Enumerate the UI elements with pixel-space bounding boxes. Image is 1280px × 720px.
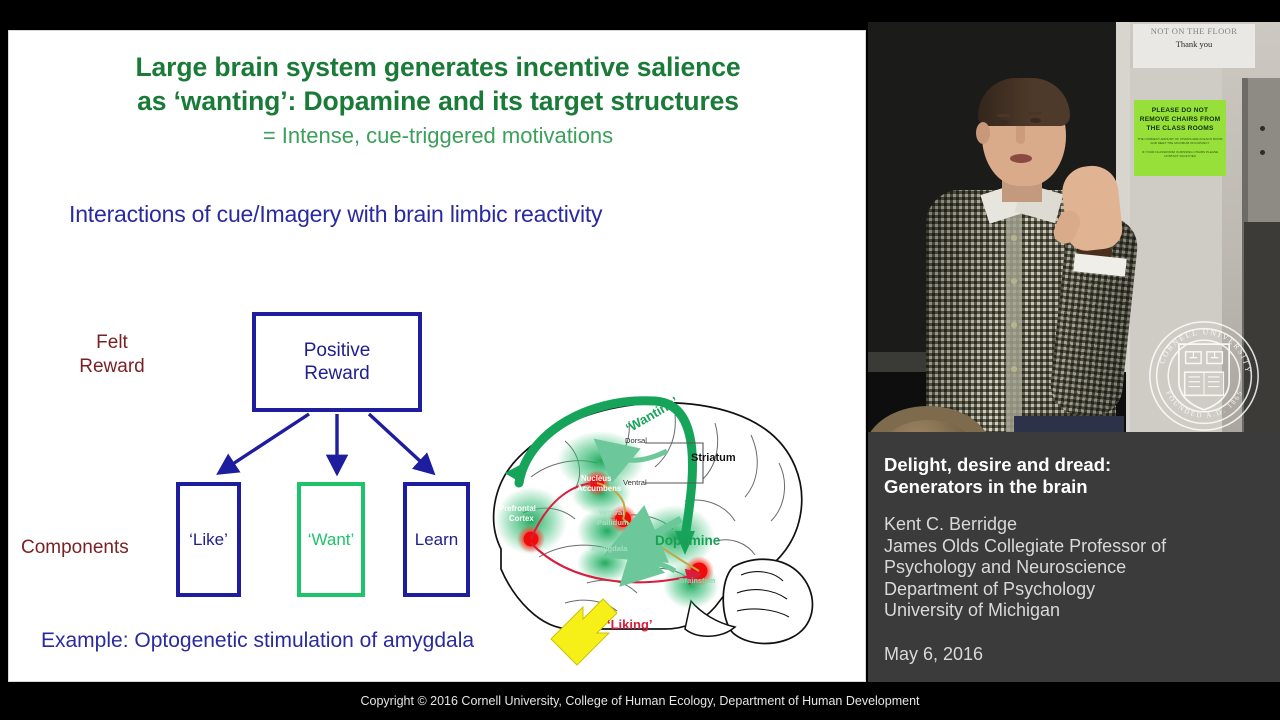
brain-label-brainstem: Brainstem (679, 576, 716, 585)
brain-diagram-svg: ‘Wanting’ ‘Liking’ Dopamine Prefrontal C… (479, 371, 859, 671)
brain-label-dopamine: Dopamine (655, 533, 721, 548)
diagram-row-label-felt-reward: Felt Reward (57, 331, 167, 379)
affiliation-line-4: University of Michigan (884, 600, 1274, 622)
brain-label-nucleus-accumbens-2: Accumbens (577, 484, 622, 493)
diagram-box-learn: Learn (403, 482, 470, 597)
cabinet-screw-1 (1260, 126, 1265, 131)
talk-info-panel: Delight, desire and dread: Generators in… (868, 432, 1280, 682)
brain-label-amygdala: Amygdala (591, 544, 628, 553)
brain-label-striatum: Striatum (691, 452, 736, 464)
wall-sign-white: NOT ON THE FLOOR Thank you (1133, 24, 1255, 68)
wall-sign-white-line-2: Thank you (1133, 39, 1255, 49)
speaker-nose (1016, 126, 1025, 144)
speaker-eye-left (998, 120, 1009, 125)
talk-date: May 6, 2016 (884, 644, 983, 665)
player-stage: Large brain system generates incentive s… (0, 0, 1280, 720)
diagram-row-label-components: Components (21, 536, 181, 560)
green-sign-line-1: PLEASE DO NOT (1137, 106, 1223, 115)
speaker-eye-right (1030, 118, 1041, 123)
wall-sign-white-line-1: NOT ON THE FLOOR (1133, 26, 1255, 36)
brain-label-ventral-pallidum-1: Ventral (599, 508, 624, 517)
diagram-box-positive-reward: Positive Reward (252, 312, 422, 412)
speaker-mouth (1010, 154, 1032, 163)
shirt-button-1 (1011, 235, 1017, 241)
hair-shading (978, 78, 1070, 126)
felt-reward-line-1: Felt (57, 331, 167, 355)
speaker-name: Kent C. Berridge (884, 514, 1274, 536)
speaker-eyebrow-right (1029, 112, 1042, 115)
brain-label-prefrontal-cortex-2: Cortex (509, 514, 534, 523)
slide-title-line-1: Large brain system generates incentive s… (9, 51, 866, 83)
affiliation-line-2: Psychology and Neuroscience (884, 557, 1274, 579)
affiliation-line-1: James Olds Collegiate Professor of (884, 536, 1274, 558)
slide-title-line-3: = Intense, cue-triggered motivations (9, 123, 866, 149)
brain-label-prefrontal-cortex-1: Prefrontal (499, 504, 536, 513)
shirt-button-3 (1011, 322, 1017, 328)
green-sign-small-1: THE CORRECT AMOUNT OF CHAIRS ARE IN EACH… (1137, 137, 1223, 146)
brain-label-ventral-pallidum-2: Pallidum (597, 518, 629, 527)
brain-label-liking: ‘Liking’ (607, 617, 653, 632)
wall-sign-green: PLEASE DO NOT REMOVE CHAIRS FROM THE CLA… (1134, 100, 1226, 176)
cornell-seal-watermark: CORNELL UNIVERSITY FOUNDED A.D. 1865 (1146, 318, 1262, 434)
talk-title-line-1: Delight, desire and dread: (884, 454, 1264, 476)
affiliation-line-3: Department of Psychology (884, 579, 1274, 601)
copyright-bar: Copyright © 2016 Cornell University, Col… (0, 688, 1280, 720)
cabinet-screw-2 (1260, 150, 1265, 155)
diagram-box-like: ‘Like’ (176, 482, 241, 597)
slide-example-text: Example: Optogenetic stimulation of amyg… (41, 629, 474, 653)
slide-title-line-2: as ‘wanting’: Dopamine and its target st… (9, 85, 866, 117)
diagram-box-want: ‘Want’ (297, 482, 365, 597)
talk-speaker-block: Kent C. Berridge James Olds Collegiate P… (884, 514, 1274, 622)
speaker-figure (906, 60, 1136, 450)
green-sign-line-2: REMOVE CHAIRS FROM (1137, 115, 1223, 124)
brain-label-ventral: Ventral (623, 478, 647, 487)
speaker-video[interactable]: NOT ON THE FLOOR Thank you PLEASE DO NOT… (868, 22, 1280, 682)
shirt-button-2 (1011, 278, 1017, 284)
talk-title-line-2: Generators in the brain (884, 476, 1264, 498)
positive-reward-line-2: Reward (304, 362, 371, 385)
speaker-ear (976, 122, 990, 144)
positive-reward-line-1: Positive (304, 339, 371, 362)
brain-label-dorsal: Dorsal (625, 436, 647, 445)
slide-subheading: Interactions of cue/Imagery with brain l… (69, 201, 829, 228)
felt-reward-line-2: Reward (57, 355, 167, 379)
green-sign-line-3: THE CLASS ROOMS (1137, 124, 1223, 133)
green-sign-small-2: IF YOUR CLASSROOM IS MISSING CHAIRS PLEA… (1137, 150, 1223, 159)
talk-title: Delight, desire and dread: Generators in… (884, 454, 1264, 498)
speaker-eyebrow-left (997, 114, 1010, 117)
brain-label-nucleus-accumbens-1: Nucleus (581, 474, 612, 483)
brain-diagram: ‘Wanting’ ‘Liking’ Dopamine Prefrontal C… (479, 371, 859, 671)
slide-area: Large brain system generates incentive s… (8, 30, 866, 682)
shirt-button-4 (1011, 366, 1017, 372)
